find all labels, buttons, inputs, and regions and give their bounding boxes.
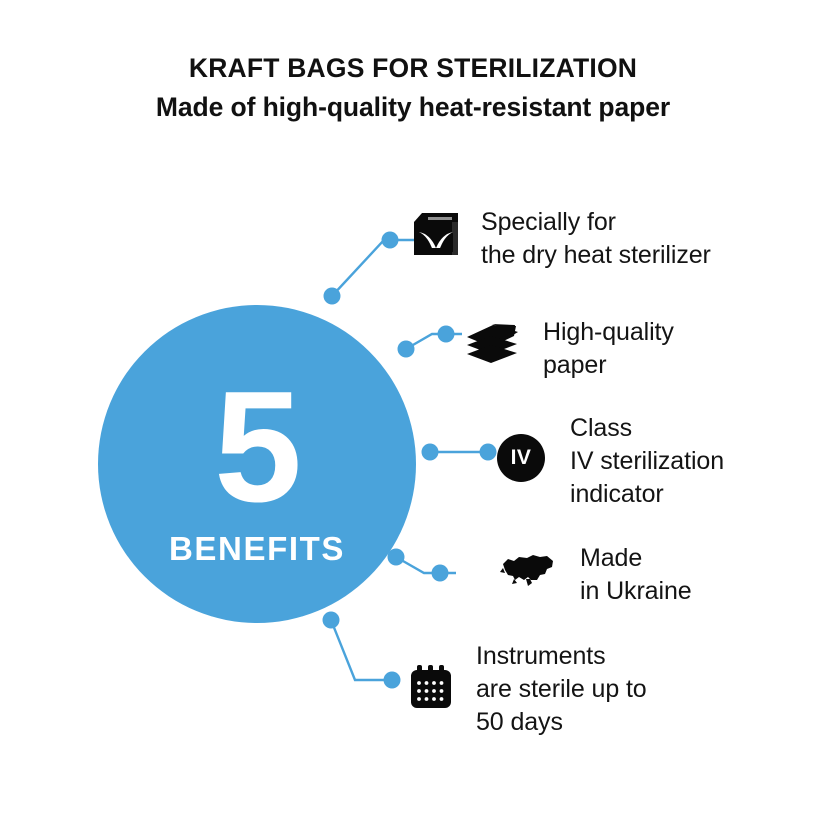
class-iv-badge-icon: IV: [497, 434, 545, 482]
header: KRAFT BAGS FOR STERILIZATION Made of hig…: [0, 52, 826, 125]
connector-line-4: [396, 557, 456, 573]
page-subtitle: Made of high-quality heat-resistant pape…: [0, 91, 826, 124]
connector-line-5: [331, 620, 392, 680]
class-iv-badge-label: IV: [497, 434, 545, 482]
benefit-label: Specially for the dry heat sterilizer: [481, 206, 711, 272]
benefit-item-high-quality-paper: High-quality paper: [463, 316, 674, 382]
benefits-hub-circle: 5 BENEFITS: [98, 305, 416, 623]
calendar-icon: [408, 664, 454, 710]
connector-dot-3-start: [422, 444, 439, 461]
page-title: KRAFT BAGS FOR STERILIZATION: [0, 52, 826, 85]
benefit-item-sterile-50-days: Instruments are sterile up to 50 days: [408, 640, 647, 738]
paper-stack-icon: [463, 322, 521, 366]
connector-dot-2-start: [398, 341, 415, 358]
connector-dot-4-end: [432, 565, 449, 582]
benefit-label: Class IV sterilization indicator: [570, 412, 724, 510]
connector-dot-2-end: [438, 326, 455, 343]
connector-line-2: [406, 334, 462, 349]
hub-label: BENEFITS: [169, 532, 345, 565]
infographic-root: KRAFT BAGS FOR STERILIZATION Made of hig…: [0, 0, 826, 826]
connector-dot-1-start: [324, 288, 341, 305]
connector-dot-1-end: [382, 232, 399, 249]
benefit-item-class-iv-indicator: IV Class IV sterilization indicator: [497, 412, 724, 510]
connector-dot-5-end: [384, 672, 401, 689]
ukraine-map-icon: [500, 550, 556, 590]
benefit-label: Made in Ukraine: [580, 542, 692, 608]
benefit-item-made-in-ukraine: Made in Ukraine: [500, 542, 692, 608]
connector-dot-3-end: [480, 444, 497, 461]
hub-count: 5: [214, 363, 300, 520]
connector-dot-5-start: [323, 612, 340, 629]
benefit-label: Instruments are sterile up to 50 days: [476, 640, 647, 738]
benefit-label: High-quality paper: [543, 316, 674, 382]
sterilizer-box-icon: [408, 208, 464, 260]
benefit-item-dry-heat-sterilizer: Specially for the dry heat sterilizer: [408, 206, 711, 272]
